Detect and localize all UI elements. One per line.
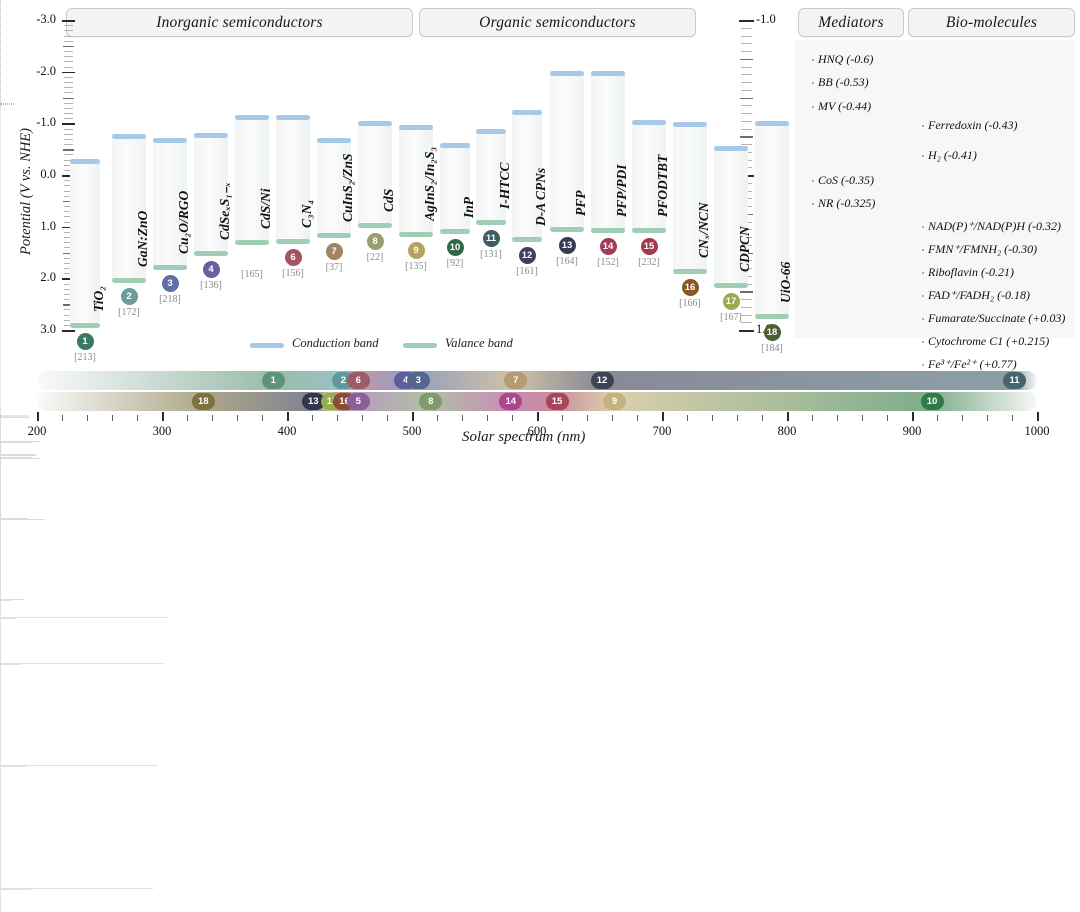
biomolecule-entry: Riboflavin (-0.21) [928, 265, 1014, 280]
panel-header-inorganic-label: Inorganic semiconductors [156, 14, 323, 32]
material-badge: 15 [641, 238, 658, 255]
spectrum-tick-major [787, 412, 789, 421]
spectrum-tick-minor [837, 415, 838, 421]
material-reference: [131] [477, 249, 505, 260]
axis-tick-minor [64, 25, 73, 26]
conduction-band-edge [112, 134, 146, 139]
biomolecule-connector-v [0, 665, 1, 766]
inset-tick-major [739, 330, 754, 332]
mediator-dot [812, 59, 814, 61]
valance-band-edge [112, 278, 146, 283]
inset-tick-minor [741, 113, 752, 114]
axis-tick-minor [64, 139, 73, 140]
biomolecule-entry: Fumarate/Succinate (+0.03) [928, 311, 1065, 326]
spectrum-tick-minor [637, 415, 638, 421]
spectrum-tick-minor [1012, 415, 1013, 421]
material-reference: [22] [361, 252, 389, 263]
material-badge: 8 [367, 233, 384, 250]
spectrum-badge: 1 [262, 372, 285, 389]
material-reference: [164] [553, 256, 581, 267]
axis-tick-major [62, 20, 75, 22]
panel-header-biomolecules: Bio-molecules [908, 8, 1075, 37]
spectrum-tick-minor [687, 415, 688, 421]
inset-tick-minor [741, 90, 752, 91]
biomolecule-connector-h1 [0, 600, 11, 601]
spectrum-track [37, 371, 1037, 390]
spectrum-tick-minor [462, 415, 463, 421]
material-label: PFP [573, 190, 589, 216]
axis-tick-minor [64, 92, 73, 93]
inset-guide [0, 105, 2, 415]
spectrum-tick-label: 800 [761, 424, 813, 439]
mediator-dot [812, 203, 814, 205]
conduction-band-edge [755, 121, 789, 126]
inset-tick-minor [741, 144, 752, 145]
axis-tick-mid [63, 46, 74, 47]
spectrum-badge: 12 [591, 372, 614, 389]
mediator-dot [812, 106, 814, 108]
material-badge: 12 [519, 247, 536, 264]
conduction-band-edge [276, 115, 310, 120]
material-label: GaN:ZnO [135, 211, 151, 267]
panel-header-mediators-label: Mediators [818, 14, 884, 32]
valance-band-edge [512, 237, 542, 242]
material-badge: 18 [764, 324, 781, 341]
mediator-entry: CoS (-0.35) [818, 173, 874, 188]
spectrum-badge: 7 [504, 372, 527, 389]
spectrum-tick-minor [887, 415, 888, 421]
valance-band-edge [476, 220, 506, 225]
axis-tick-label: -3.0 [22, 12, 56, 27]
spectrum-badge: 14 [499, 393, 522, 410]
biomolecule-dot [922, 341, 924, 343]
material-reference: [184] [758, 343, 786, 354]
biomolecule-entry: Ferredoxin (-0.43) [928, 118, 1018, 133]
valance-band-edge [399, 232, 433, 237]
valance-band-edge [70, 323, 100, 328]
inset-tick-label: -1.0 [756, 12, 786, 27]
valance-band-edge [591, 228, 625, 233]
material-reference: [156] [279, 268, 307, 279]
conduction-band-edge [235, 115, 269, 120]
biomolecule-dot [922, 295, 924, 297]
valance-band-edge [276, 239, 310, 244]
inset-tick-mid [740, 291, 753, 292]
valance-band-edge [194, 251, 228, 256]
axis-tick-major [62, 330, 75, 332]
spectrum-tick-minor [137, 415, 138, 421]
spectrum-tick-major [537, 412, 539, 421]
spectrum-tick-minor [362, 415, 363, 421]
spectrum-tick-label: 700 [636, 424, 688, 439]
reference-entries: HNQ (-0.6)BB (-0.53)MV (-0.44)CoS (-0.35… [0, 417, 1080, 912]
axis-tick-minor [64, 77, 73, 78]
spectrum-tick-minor [987, 415, 988, 421]
biomolecule-dot [922, 226, 924, 228]
material-reference: [167] [717, 312, 745, 323]
inset-tick-minor [741, 36, 752, 37]
conduction-band-edge [70, 159, 100, 164]
biomolecule-dot [922, 272, 924, 274]
spectrum-track [37, 392, 1037, 411]
material-label: CdS [381, 188, 397, 211]
spectrum-tick-minor [612, 415, 613, 421]
material-badge: 11 [483, 230, 500, 247]
axis-tick-minor [64, 51, 73, 52]
biomolecule-connector-h2 [0, 617, 168, 618]
inset-tick-minor [741, 28, 752, 29]
axis-tick-minor [64, 36, 73, 37]
material-label: Cu₂O/RGO [176, 191, 192, 254]
spectrum-badge: 6 [347, 372, 370, 389]
biomolecule-connector-h1 [0, 618, 16, 619]
conduction-band-edge [476, 129, 506, 134]
legend-label-conduction: Conduction band [292, 336, 378, 351]
spectrum-tick-minor [862, 415, 863, 421]
spectrum-tick-minor [487, 415, 488, 421]
inset-tick-mid [740, 136, 753, 137]
spectrum-tick-minor [62, 415, 63, 421]
spectrum-tick-minor [112, 415, 113, 421]
legend-swatch-conduction [250, 343, 284, 348]
spectrum-badge: 3 [407, 372, 430, 389]
mediator-connector-v [0, 459, 1, 518]
mediator-connector-h1 [0, 417, 29, 418]
spectrum-tick-minor [387, 415, 388, 421]
spectrum-tick-minor [587, 415, 588, 421]
axis-tick-label: -1.0 [22, 115, 56, 130]
material-label: PFP/PDI [614, 164, 630, 217]
spectrum-tick-minor [337, 415, 338, 421]
biomolecule-connector-h1 [0, 766, 26, 767]
panel-header-organic-label: Organic semiconductors [479, 14, 636, 32]
valance-band-edge [440, 229, 470, 234]
valance-band-edge [235, 240, 269, 245]
spectrum-tick-major [1037, 412, 1039, 421]
biomolecule-dot [922, 318, 924, 320]
conduction-band-edge [673, 122, 707, 127]
spectrum-tick-minor [187, 415, 188, 421]
material-label: C₃N₄ [299, 200, 315, 228]
axis-tick-major [62, 123, 75, 125]
conduction-band-edge [714, 146, 748, 151]
biomolecule-entry: Cytochrome C1 (+0.215) [928, 334, 1049, 349]
material-label: D-A CPNs [533, 168, 549, 226]
inset-tick-minor [741, 74, 752, 75]
biomolecule-connector-v [0, 890, 1, 912]
axis-tick-minor [64, 113, 73, 114]
conduction-band-edge [153, 138, 187, 143]
material-reference: [37] [320, 262, 348, 273]
legend-label-valance: Valance band [445, 336, 513, 351]
conduction-band-edge [632, 120, 666, 125]
panel-header-organic: Organic semiconductors [419, 8, 696, 37]
spectrum-tick-minor [512, 415, 513, 421]
spectrum-tick-major [912, 412, 914, 421]
material-reference: [161] [513, 266, 541, 277]
material-badge: 4 [203, 261, 220, 278]
mediator-entry: NR (-0.325) [818, 196, 875, 211]
column-body [440, 143, 470, 232]
spectrum-badge: 11 [1003, 372, 1026, 389]
spectrum-tick-label: 300 [136, 424, 188, 439]
axis-tick-minor [64, 134, 73, 135]
spectrum-tick-major [37, 412, 39, 421]
inset-tick-minor [741, 299, 752, 300]
material-label: UiO-66 [778, 261, 794, 302]
material-reference: [218] [156, 294, 184, 305]
mediator-entry: BB (-0.53) [818, 75, 869, 90]
material-badge: 1 [77, 333, 94, 350]
axis-tick-mid [63, 149, 74, 150]
panel-header-inorganic: Inorganic semiconductors [66, 8, 413, 37]
material-badge: 9 [408, 242, 425, 259]
inset-tick-minor [741, 82, 752, 83]
axis-tick-major [62, 72, 75, 74]
axis-tick-label: 3.0 [22, 322, 56, 337]
spectrum-badge: 9 [603, 393, 626, 410]
band-alignment-figure: Inorganic semiconductors Organic semicon… [0, 0, 1080, 456]
axis-tick-minor [64, 87, 73, 88]
biomolecule-dot [922, 249, 924, 251]
material-reference: [232] [635, 257, 663, 268]
spectrum-tick-minor [237, 415, 238, 421]
spectrum-tick-minor [712, 415, 713, 421]
spectrum-tick-label: 1000 [1011, 424, 1063, 439]
material-reference: [152] [594, 257, 622, 268]
spectrum-tick-minor [212, 415, 213, 421]
material-reference: [213] [71, 352, 99, 363]
biomolecule-dot [922, 125, 924, 127]
axis-tick-label: -2.0 [22, 64, 56, 79]
valance-band-edge [550, 227, 584, 232]
mediator-connector-v [0, 443, 1, 454]
legend-swatch-valance [403, 343, 437, 348]
axis-tick-label: 0.0 [22, 167, 56, 182]
mediator-connector-h1 [0, 458, 41, 459]
axis-tick-mid [63, 98, 74, 99]
conduction-band-edge [358, 121, 392, 126]
biomolecule-entry: FAD⁺/FADH₂ (-0.18) [928, 288, 1030, 303]
inset-tick-minor [741, 129, 752, 130]
material-badge: 10 [447, 239, 464, 256]
material-badge: 7 [326, 243, 343, 260]
material-label: CuInS₂/ZnS [340, 153, 356, 222]
biomolecule-connector-h2 [0, 663, 163, 664]
biomolecule-connector-v [0, 619, 1, 663]
material-label: CdSeₓS₁₋ₓ [217, 182, 233, 240]
axis-tick-minor [64, 56, 73, 57]
spectrum-tick-minor [562, 415, 563, 421]
mediator-connector-h1 [0, 519, 45, 520]
spectrum-badge: 10 [921, 393, 944, 410]
material-reference: [172] [115, 307, 143, 318]
panel-header-biomolecules-label: Bio-molecules [946, 14, 1037, 32]
valance-band-edge [317, 233, 351, 238]
inset-tick-minor [741, 105, 752, 106]
material-badge: 13 [559, 237, 576, 254]
biomolecule-entry: FMN⁺/FMNH₂ (-0.30) [928, 242, 1037, 257]
valance-band-edge [632, 228, 666, 233]
mediator-dot [812, 180, 814, 182]
axis-tick-label: 1.0 [22, 219, 56, 234]
axis-tick-minor [64, 118, 73, 119]
inset-tick-minor [741, 307, 752, 308]
mediator-entry: HNQ (-0.6) [818, 52, 873, 67]
spectrum-tick-major [162, 412, 164, 421]
material-reference: [165] [238, 269, 266, 280]
material-badge: 14 [600, 238, 617, 255]
material-label: AgInS₂/In₂S₃ [422, 147, 438, 221]
axis-tick-minor [64, 67, 73, 68]
inset-tick-major [739, 20, 754, 22]
axis-tick-minor [64, 129, 73, 130]
inset-tick-minor [741, 67, 752, 68]
inset-bracket-bottom [0, 104, 14, 105]
panel-header-mediators: Mediators [798, 8, 904, 37]
material-label: CDPCN [737, 226, 753, 272]
conduction-band-edge [512, 110, 542, 115]
valance-band-edge [714, 283, 748, 288]
material-badge: 5 [244, 250, 261, 267]
mediator-dot [812, 82, 814, 84]
spectrum-tick-major [412, 412, 414, 421]
material-reference: [135] [402, 261, 430, 272]
biomolecule-entry: Fe³⁺/Fe²⁺ (+0.77) [928, 357, 1017, 372]
axis-tick-minor [64, 154, 73, 155]
spectrum-tick-label: 500 [386, 424, 438, 439]
spectrum-badge: 8 [419, 393, 442, 410]
material-badge: 6 [285, 249, 302, 266]
mediator-connector-v [0, 520, 1, 598]
valance-band-edge [755, 314, 789, 319]
spectrum-tick-major [662, 412, 664, 421]
conduction-band-edge [317, 138, 351, 143]
biomolecule-connector-v [0, 601, 1, 618]
spectrum-tick-minor [87, 415, 88, 421]
spectrum-axis-title: Solar spectrum (nm) [462, 429, 585, 446]
material-label: CNₓ/NCN [696, 202, 712, 258]
spectrum-tick-minor [437, 415, 438, 421]
material-reference: [166] [676, 298, 704, 309]
axis-tick-minor [64, 61, 73, 62]
material-label: I-HTCC [497, 162, 513, 209]
axis-tick-minor [64, 103, 73, 104]
spectrum-badge: 15 [546, 393, 569, 410]
potential-axis-title: Potential (V vs. NHE) [18, 128, 35, 255]
inset-tick-minor [741, 51, 752, 52]
inset-tick-minor [741, 43, 752, 44]
material-label: PFODTBT [655, 155, 671, 217]
conduction-band-edge [550, 71, 584, 76]
conduction-band-edge [591, 71, 625, 76]
inset-bracket-left [0, 0, 2, 103]
axis-tick-label: 2.0 [22, 270, 56, 285]
material-label: TiO₂ [91, 286, 107, 312]
mediator-connector-v [0, 418, 1, 441]
spectrum-badge: 5 [347, 393, 370, 410]
spectrum-tick-minor [762, 415, 763, 421]
material-reference: [136] [197, 280, 225, 291]
spectrum-tick-label: 200 [11, 424, 63, 439]
axis-tick-minor [64, 41, 73, 42]
mediator-entry: MV (-0.44) [818, 99, 871, 114]
material-badge: 16 [682, 279, 699, 296]
inset-tick-mid [740, 98, 753, 99]
conduction-band-edge [440, 143, 470, 148]
material-badge: 17 [723, 293, 740, 310]
biomolecule-connector-h1 [0, 664, 21, 665]
spectrum-tick-label: 900 [886, 424, 938, 439]
valance-band-edge [358, 223, 392, 228]
spectrum-tick-major [287, 412, 289, 421]
material-badge: 3 [162, 275, 179, 292]
inset-tick-mid [740, 59, 753, 60]
mediator-connector-h1 [0, 442, 33, 443]
biomolecule-connector-v [0, 767, 1, 888]
material-label: CdS/Ni [258, 189, 274, 230]
biomolecule-entry: NAD(P)⁺/NAD(P)H (-0.32) [928, 219, 1061, 234]
axis-tick-minor [64, 82, 73, 83]
material-label: InP [461, 197, 477, 218]
spectrum-tick-minor [937, 415, 938, 421]
biomolecule-connector-h1 [0, 889, 31, 890]
valance-band-edge [673, 269, 707, 274]
spectrum-tick-label: 400 [261, 424, 313, 439]
biomolecule-entry: H₂ (-0.41) [928, 148, 977, 163]
conduction-band-edge [399, 125, 433, 130]
spectrum-tick-minor [312, 415, 313, 421]
biomolecule-dot [922, 155, 924, 157]
spectrum-tick-minor [812, 415, 813, 421]
conduction-band-edge [194, 133, 228, 138]
material-reference: [92] [441, 258, 469, 269]
material-badge: 2 [121, 288, 138, 305]
axis-tick-minor [64, 108, 73, 109]
axis-tick-minor [64, 30, 73, 31]
spectrum-tick-minor [962, 415, 963, 421]
spectrum-tick-minor [737, 415, 738, 421]
axis-tick-minor [64, 144, 73, 145]
spectrum-badge: 18 [192, 393, 215, 410]
spectrum-tick-minor [262, 415, 263, 421]
inset-tick-minor [741, 121, 752, 122]
valance-band-edge [153, 265, 187, 270]
biomolecule-dot [922, 364, 924, 366]
